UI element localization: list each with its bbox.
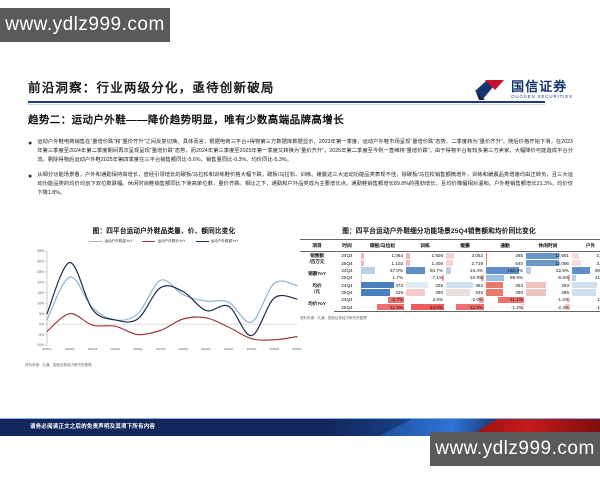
cell-value: 12,901 (555, 253, 569, 258)
table-col-header: 缓震 (445, 240, 485, 252)
cell-value: 293 (561, 283, 569, 288)
bullet-text: 从细分功能场景看，户外和通勤保持高增长，曾经引领增长的碳板/马拉松和训练鞋价格大… (37, 171, 573, 199)
table-row: 均价/元24Q4473325392253293357 (300, 282, 600, 289)
table-data-cell: 12,056 (525, 259, 571, 266)
table-row: 25Q4419280345250286350 (300, 289, 600, 296)
cell-data-bar (406, 297, 414, 303)
cell-data-bar (406, 282, 428, 288)
cell-value: 67.0% (390, 268, 403, 273)
title-underline-thin (28, 104, 545, 105)
bullet-dot-icon: ● (28, 171, 32, 199)
table-data-cell: 392 (445, 282, 485, 289)
cell-data-bar (572, 253, 579, 259)
cell-data-bar (572, 275, 576, 281)
cell-value: -14.0% (428, 305, 443, 310)
table-col-header: 时间 (334, 240, 360, 252)
table-data-cell: 2,719 (445, 259, 485, 266)
cell-value: 3,167 (597, 261, 600, 266)
legend-item: 运动户外鞋额YoY (196, 239, 239, 244)
section-subtitle: 趋势二：运动户外鞋——降价趋势明显，唯有少数高端品牌高增长 (28, 112, 344, 127)
line-chart-svg: 35%30%25%20%15%10%5%0%-5%-10%2023Q12023Q… (25, 247, 303, 359)
cell-data-bar (446, 253, 454, 259)
table-data-cell: -11.1% (485, 296, 525, 303)
table-data-cell: 90.1% (571, 267, 600, 274)
cell-data-bar (361, 289, 390, 295)
legend-item: 运动户外鞋量YoY (89, 239, 132, 244)
cell-data-bar (486, 275, 504, 281)
cell-data-bar (361, 253, 364, 259)
table-col-header: 训练 (405, 240, 445, 252)
table-data-cell: -1.2% (485, 304, 525, 312)
table-col-header: 通勤 (485, 240, 525, 252)
cell-value: 286 (561, 290, 569, 295)
cell-value: -2.0% (471, 297, 483, 302)
svg-text:25%: 25% (37, 270, 44, 274)
table-data-cell: 1,102 (360, 259, 405, 266)
table-data-cell: 285 (485, 252, 525, 260)
table-title: 图：四平台运动户外鞋细分功能场景25Q4销售额和均价同比变化 (300, 225, 578, 235)
legend-label: 运动户外鞋价YoY (157, 239, 185, 244)
table-data-cell: 21.3% (571, 274, 600, 281)
cell-value: 2,719 (472, 261, 484, 266)
table-col-header: 休闲时尚 (525, 240, 571, 252)
table-panel: 图：四平台运动户外鞋细分功能场景25Q4销售额和均价同比变化 项目时间碳板/马拉… (300, 225, 578, 321)
cell-value: 1,102 (392, 261, 404, 266)
svg-text:10%: 10% (37, 301, 44, 305)
table-period-cell: 25Q4 (334, 274, 360, 281)
cell-data-bar (572, 260, 581, 266)
logo-text-cn: 国信证券 (511, 80, 573, 93)
footer-disclaimer: 请务必阅读正文之后的免责声明及其项下所有内容 (30, 422, 155, 430)
cell-value: -2.3% (557, 305, 569, 310)
cell-data-bar (526, 289, 546, 295)
table-data-cell: -1.2% (525, 296, 571, 303)
table-source-note: 资料来源：久谦、国信证券经济研究所整理 (300, 316, 578, 321)
svg-text:2024Q4: 2024Q4 (201, 347, 211, 351)
svg-text:15%: 15% (37, 291, 44, 295)
table-data-cell: 540 (485, 259, 525, 266)
chart-plot-area: 35%30%25%20%15%10%5%0%-5%-10%2023Q12023Q… (25, 247, 303, 359)
cell-value: 3,052 (472, 253, 484, 258)
cell-data-bar (361, 275, 362, 281)
table-data-cell: 3.5% (405, 296, 445, 303)
cell-value: 345 (475, 290, 483, 295)
table-data-cell: 1.7% (360, 274, 405, 281)
legend-label: 运动户外鞋量YoY (104, 239, 132, 244)
table-data-cell: 162.4% (485, 267, 525, 274)
cell-value: 162.4% (507, 268, 523, 273)
table-data-cell: -11.5% (360, 304, 405, 312)
table-col-header: 项目 (300, 240, 334, 252)
cell-data-bar (526, 282, 546, 288)
guosen-logo-icon (473, 78, 507, 102)
table-data-cell: -6.7% (360, 296, 405, 303)
logo-text-en: GUOSEN SECURITIES (511, 95, 573, 99)
svg-text:2023Q1: 2023Q1 (42, 347, 52, 351)
table-data-cell: 1,508 (405, 252, 445, 260)
slide-header: 前沿洞察：行业两级分化，亟待创新破局 国信证券 GUOSEN SECURITIE… (28, 78, 573, 105)
cell-value: 285 (515, 253, 523, 258)
table-data-cell: 89.8% (485, 274, 525, 281)
table-period-cell: 24Q4 (334, 252, 360, 260)
bullet-text: 运动户外鞋电商销售在“量增价跌”和“量价齐升”之间反复切换。具体而言，根据电商三… (37, 138, 573, 166)
cell-data-bar (572, 289, 596, 295)
table-data-cell: 280 (405, 289, 445, 296)
cell-value: 253 (515, 283, 523, 288)
svg-text:2024Q3: 2024Q3 (179, 347, 189, 351)
table-row-label: 均价YoY (300, 296, 334, 311)
table-header-row: 项目时间碳板/马拉松训练缓震通勤休闲时尚户外 (300, 240, 600, 252)
table-data-cell: 1,084 (360, 252, 405, 260)
legend-swatch-icon (196, 241, 209, 242)
cell-value: 89.8% (510, 275, 523, 280)
svg-text:2024Q2: 2024Q2 (156, 347, 166, 351)
chart-legend: 运动户外鞋量YoY 运动户外鞋价YoY 运动户外鞋额YoY (25, 239, 303, 244)
cell-value: -11.1% (509, 297, 523, 302)
cell-value: 22.6% (556, 268, 569, 273)
cell-data-bar (406, 253, 410, 259)
cell-data-bar (486, 260, 487, 266)
table-data-cell: 22.6% (525, 267, 571, 274)
table-body: 销售额/百万元24Q41,0841,5083,05228512,9012,610… (300, 252, 600, 312)
cell-data-bar (572, 297, 575, 303)
table-data-cell: 286 (525, 289, 571, 296)
table-row-label: 销售额/百万元 (300, 252, 334, 267)
cell-value: 1,508 (432, 253, 444, 258)
table-row-label: 销额YoY (300, 267, 334, 282)
table-data-cell: 473 (360, 282, 405, 289)
table-data-cell: 357 (571, 282, 600, 289)
table-data-cell: -10.9% (445, 274, 485, 281)
cell-value: 12,056 (555, 261, 569, 266)
table-data-cell: 293 (525, 282, 571, 289)
cell-value: 2,610 (597, 253, 600, 258)
cell-data-bar (406, 267, 425, 273)
svg-text:2025Q4: 2025Q4 (292, 347, 302, 351)
table-data-cell: -7.1% (405, 274, 445, 281)
table-period-cell: 25Q4 (334, 259, 360, 266)
slide-canvas: 前沿洞察：行业两级分化，亟待创新破局 国信证券 GUOSEN SECURITIE… (0, 60, 600, 430)
svg-text:-5%: -5% (38, 333, 44, 337)
cell-value: 325 (435, 283, 443, 288)
table-row: 均价YoY24Q4-6.7%3.5%-2.0%-11.1%-1.2%1.2% (300, 296, 600, 303)
svg-text:2025Q3: 2025Q3 (269, 347, 279, 351)
cell-value: 280 (435, 290, 443, 295)
table-row: 销额YoY24Q467.0%94.7%24.4%162.4%22.6%90.1% (300, 267, 600, 274)
cell-value: -12.0% (468, 305, 483, 310)
table-data-cell: -2.0% (445, 296, 485, 303)
cell-value: -11.5% (389, 305, 403, 310)
table-row: 销售额/百万元24Q41,0841,5083,05228512,9012,610 (300, 252, 600, 260)
svg-text:2024Q1: 2024Q1 (133, 347, 143, 351)
svg-text:2025Q2: 2025Q2 (247, 347, 257, 351)
watermark-bottom: www.ydlz999.com (430, 432, 600, 466)
legend-swatch-icon (89, 241, 102, 242)
bullet-item: ● 运动户外鞋电商销售在“量增价跌”和“量价齐升”之间反复切换。具体而言，根据电… (28, 138, 573, 166)
chart-panel: 图：四平台运动户外鞋品类量、价、额同比变化 运动户外鞋量YoY 运动户外鞋价Yo… (25, 225, 303, 368)
bullet-item: ● 从细分功能场景看，户外和通勤保持高增长，曾经引领增长的碳板/马拉松和训练鞋价… (28, 171, 573, 199)
table-data-cell: -6.5% (525, 274, 571, 281)
svg-text:2023Q3: 2023Q3 (88, 347, 98, 351)
chart-source-note: 资料来源：久谦、国信证券经济研究所整理 (25, 363, 303, 368)
cell-value: 90.1% (595, 268, 600, 273)
svg-text:-10%: -10% (36, 343, 44, 347)
cell-value: 392 (475, 283, 483, 288)
cell-value: 1.7% (393, 275, 403, 280)
chart-title: 图：四平台运动户外鞋品类量、价、额同比变化 (25, 225, 303, 235)
svg-text:2023Q2: 2023Q2 (65, 347, 75, 351)
cell-value: 21.3% (595, 275, 600, 280)
table-data-cell: 12,901 (525, 252, 571, 260)
watermark-top: www.ydlz999.com (0, 8, 170, 42)
bullet-dot-icon: ● (28, 138, 32, 166)
cell-value: 1,400 (432, 261, 444, 266)
table-row: 25Q4-11.5%-14.0%-12.0%-1.2%-2.3%-1.8% (300, 304, 600, 312)
cell-value: 250 (515, 290, 523, 295)
table-head: 项目时间碳板/马拉松训练缓震通勤休闲时尚户外 (300, 240, 600, 252)
cell-value: 540 (515, 261, 523, 266)
svg-text:0%: 0% (39, 322, 44, 326)
cell-data-bar (361, 282, 394, 288)
table-data-cell: -1.8% (571, 304, 600, 312)
cell-value: 94.7% (430, 268, 443, 273)
table-data-cell: 250 (485, 289, 525, 296)
legend-label: 运动户外鞋额YoY (211, 239, 239, 244)
cell-value: -7.1% (431, 275, 443, 280)
cell-data-bar (446, 289, 470, 295)
svg-text:2025Q1: 2025Q1 (224, 347, 234, 351)
table-data-cell: 2,610 (571, 252, 600, 260)
bullet-list: ● 运动户外鞋电商销售在“量增价跌”和“量价齐升”之间反复切换。具体而言，根据电… (28, 138, 573, 203)
table-row: 25Q41,1021,4002,71954012,0563,167 (300, 259, 600, 266)
brand-logo: 国信证券 GUOSEN SECURITIES (473, 78, 573, 102)
cell-data-bar (486, 282, 503, 288)
svg-text:2023Q4: 2023Q4 (110, 347, 120, 351)
table-data-cell: 24.4% (445, 267, 485, 274)
table-period-cell: 25Q4 (334, 304, 360, 312)
cell-value: -6.5% (557, 275, 569, 280)
table-data-cell: 1,400 (405, 259, 445, 266)
cell-data-bar (486, 253, 487, 259)
cell-data-bar (572, 282, 597, 288)
cell-value: 419 (395, 290, 403, 295)
svg-text:35%: 35% (37, 249, 44, 253)
cell-data-bar (486, 289, 503, 295)
table-period-cell: 24Q4 (334, 296, 360, 303)
cell-value: 1,084 (392, 253, 404, 258)
cell-data-bar (526, 267, 531, 273)
table-data-cell: 94.7% (405, 267, 445, 274)
cell-value: -1.8% (596, 305, 600, 310)
cell-value: 473 (395, 283, 403, 288)
legend-item: 运动户外鞋价YoY (142, 239, 185, 244)
table-period-cell: 25Q4 (334, 289, 360, 296)
cell-data-bar (361, 260, 364, 266)
cell-value: 3.5% (433, 297, 443, 302)
cell-data-bar (446, 260, 453, 266)
cell-data-bar (361, 267, 375, 273)
cell-data-bar (446, 267, 451, 273)
table-col-header: 户外 (571, 240, 600, 252)
table-data-cell: 67.0% (360, 267, 405, 274)
footer-top-line (0, 418, 600, 419)
cell-value: -10.9% (468, 275, 483, 280)
table-data-cell: -14.0% (405, 304, 445, 312)
table-data-cell: 419 (360, 289, 405, 296)
legend-swatch-icon (142, 241, 155, 242)
table-data-cell: 3,052 (445, 252, 485, 260)
table-data-cell: 1.2% (571, 296, 600, 303)
svg-text:20%: 20% (37, 281, 44, 285)
table-data-cell: 350 (571, 289, 600, 296)
table-data-cell: -2.3% (525, 304, 571, 312)
table-data-cell: 325 (405, 282, 445, 289)
cell-value: -1.2% (511, 305, 523, 310)
cell-data-bar (406, 260, 410, 266)
table-col-header: 碳板/马拉松 (360, 240, 405, 252)
table-data-cell: 253 (485, 282, 525, 289)
cell-value: 24.4% (470, 268, 483, 273)
table-row: 25Q41.7%-7.1%-10.9%89.8%-6.5%21.3% (300, 274, 600, 281)
cell-data-bar (446, 282, 473, 288)
cell-data-bar (406, 289, 425, 295)
title-underline (28, 101, 545, 103)
cell-value: -6.7% (391, 297, 403, 302)
data-table: 项目时间碳板/马拉松训练缓震通勤休闲时尚户外 销售额/百万元24Q41,0841… (300, 239, 600, 312)
cell-value: -1.2% (557, 297, 569, 302)
cell-data-bar (572, 267, 590, 273)
table-data-cell: 3,167 (571, 259, 600, 266)
svg-text:30%: 30% (37, 260, 44, 264)
table-period-cell: 24Q4 (334, 282, 360, 289)
table-data-cell: -12.0% (445, 304, 485, 312)
table-data-cell: 345 (445, 289, 485, 296)
svg-text:5%: 5% (39, 312, 44, 316)
table-row-label: 均价/元 (300, 282, 334, 297)
table-period-cell: 24Q4 (334, 267, 360, 274)
